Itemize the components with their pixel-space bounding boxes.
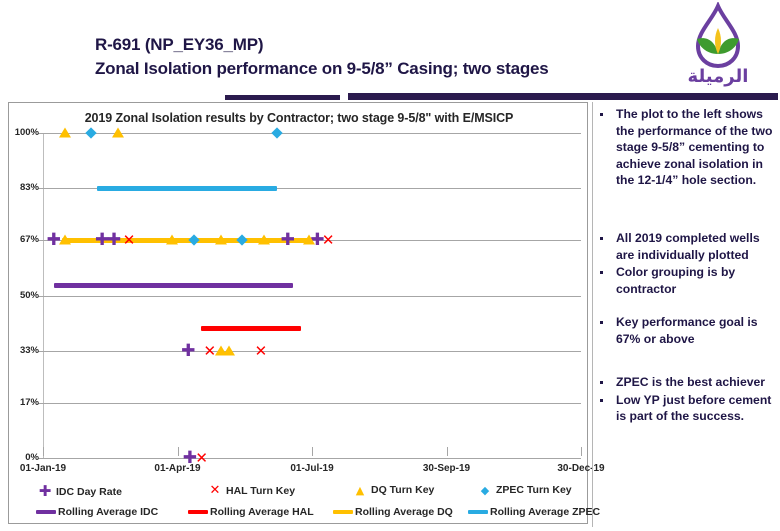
y-axis-tick-label: 33%	[20, 345, 39, 356]
x-axis-tick-label: 30-Sep-19	[423, 463, 470, 474]
legend-label: DQ Turn Key	[371, 484, 434, 496]
title-line-2: Zonal Isolation performance on 9-5/8” Ca…	[95, 57, 655, 81]
bullet-group-2: All 2019 completed wells are individuall…	[594, 230, 780, 298]
legend-marker-item[interactable]: ▲DQ Turn Key	[353, 484, 434, 496]
legend-plus-icon: ✚	[38, 484, 52, 499]
rolling-average-line	[54, 283, 293, 288]
title-rule-left	[225, 95, 340, 100]
bullet-group-4: ZPEC is the best achieverLow YP just bef…	[594, 374, 780, 426]
x-axis-tick-label: 01-Jan-19	[20, 463, 66, 474]
legend-marker-item[interactable]: ◆ZPEC Turn Key	[478, 484, 572, 496]
rolling-average-line	[201, 326, 302, 331]
chart-title: 2019 Zonal Isolation results by Contract…	[9, 111, 589, 125]
y-axis-tick-label: 83%	[20, 182, 39, 193]
side-bullet: All 2019 completed wells are individuall…	[594, 230, 780, 263]
y-axis-tick-label: 50%	[20, 290, 39, 301]
slide-header: R-691 (NP_EY36_MP) Zonal Isolation perfo…	[0, 0, 780, 100]
legend-line-item[interactable]: Rolling Average DQ	[333, 506, 453, 518]
x-tick	[178, 447, 179, 456]
svg-text:الرميلة: الرميلة	[688, 66, 749, 87]
x-axis-tick-label: 01-Apr-19	[154, 463, 200, 474]
legend-marker-row: ✚IDC Day Rate✕HAL Turn Key▲DQ Turn Key◆Z…	[8, 484, 588, 504]
rolling-average-line	[97, 186, 277, 191]
gridline	[43, 351, 581, 352]
chart-legend: ✚IDC Day Rate✕HAL Turn Key▲DQ Turn Key◆Z…	[8, 484, 588, 528]
legend-line-swatch	[468, 510, 488, 514]
side-bullet: ZPEC is the best achiever	[594, 374, 780, 391]
legend-label: IDC Day Rate	[56, 486, 122, 498]
legend-label: ZPEC Turn Key	[496, 484, 572, 496]
legend-marker-item[interactable]: ✕HAL Turn Key	[208, 484, 295, 497]
bullet-group-1: The plot to the left shows the performan…	[594, 106, 780, 190]
legend-label: Rolling Average HAL	[210, 506, 314, 518]
y-axis-tick-label: 17%	[20, 397, 39, 408]
legend-line-swatch	[333, 510, 353, 514]
side-bullet: Color grouping is by contractor	[594, 264, 780, 297]
bullet-group-3: Key performance goal is 67% or above	[594, 314, 780, 348]
side-notes-panel: The plot to the left shows the performan…	[594, 102, 780, 527]
gridline	[43, 458, 581, 459]
al-rumaila-logo-icon: الرميلة	[672, 2, 764, 88]
legend-label: Rolling Average DQ	[355, 506, 453, 518]
legend-x-icon: ✕	[208, 484, 222, 497]
chart-panel: 2019 Zonal Isolation results by Contract…	[8, 102, 588, 524]
legend-label: Rolling Average ZPEC	[490, 506, 600, 518]
x-tick	[43, 447, 44, 456]
legend-line-swatch	[188, 510, 208, 514]
legend-label: HAL Turn Key	[226, 485, 295, 497]
legend-line-item[interactable]: Rolling Average HAL	[188, 506, 314, 518]
page-title: R-691 (NP_EY36_MP) Zonal Isolation perfo…	[95, 33, 655, 81]
legend-line-row: Rolling Average IDCRolling Average HALRo…	[8, 506, 588, 526]
x-tick	[312, 447, 313, 456]
title-rule-right	[348, 93, 778, 100]
panel-divider	[592, 102, 593, 527]
legend-triangle-icon: ▲	[353, 485, 367, 496]
rolling-average-line	[62, 238, 312, 243]
side-bullet: The plot to the left shows the performan…	[594, 106, 780, 189]
x-tick	[581, 447, 582, 456]
x-axis-tick-label: 01-Jul-19	[290, 463, 333, 474]
x-tick	[447, 447, 448, 456]
y-axis-tick-label: 67%	[20, 234, 39, 245]
gridline	[43, 133, 581, 134]
legend-marker-item[interactable]: ✚IDC Day Rate	[38, 484, 122, 499]
side-bullet: Low YP just before cement is part of the…	[594, 392, 780, 425]
plot-area: 0%17%33%50%67%83%100% 01-Jan-1901-Apr-19…	[43, 133, 581, 458]
legend-diamond-icon: ◆	[478, 485, 492, 496]
legend-label: Rolling Average IDC	[58, 506, 158, 518]
legend-line-item[interactable]: Rolling Average IDC	[36, 506, 158, 518]
gridline	[43, 296, 581, 297]
legend-line-swatch	[36, 510, 56, 514]
y-axis-tick-label: 0%	[25, 452, 39, 463]
gridline	[43, 403, 581, 404]
title-line-1: R-691 (NP_EY36_MP)	[95, 33, 655, 57]
side-bullet: Key performance goal is 67% or above	[594, 314, 780, 347]
legend-line-item[interactable]: Rolling Average ZPEC	[468, 506, 600, 518]
y-axis-tick-label: 100%	[15, 127, 39, 138]
